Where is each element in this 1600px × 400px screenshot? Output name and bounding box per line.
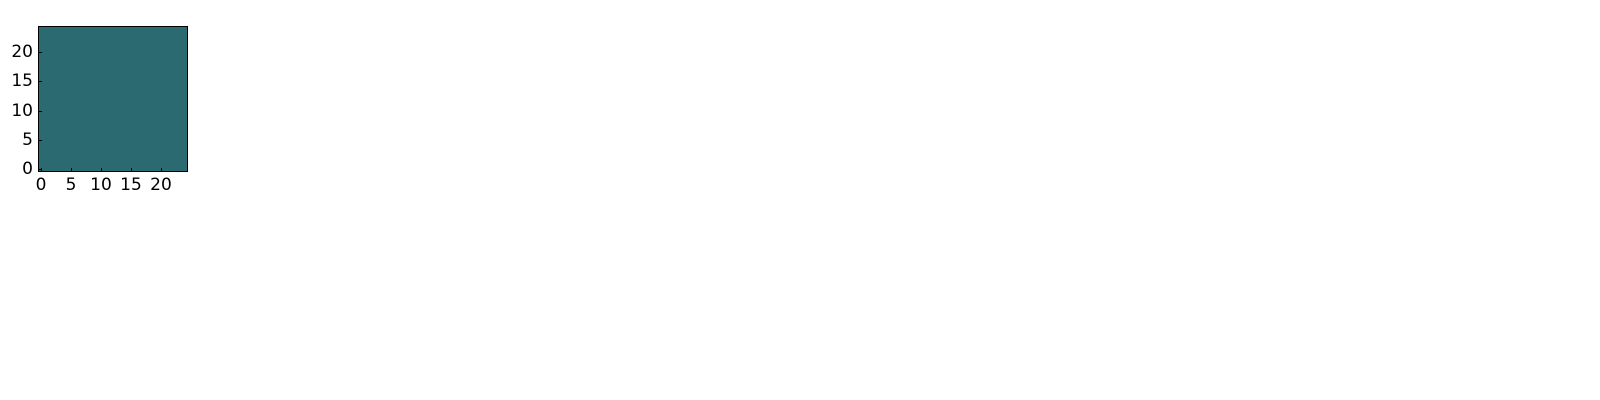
x-tick-f814w: [161, 168, 162, 172]
panel-f814w: 0510152005101520: [0, 0, 1600, 400]
x-tick-label-f814w: 0: [36, 175, 47, 195]
x-tick-f814w: [101, 168, 102, 172]
image-axes-f814w: [38, 26, 188, 172]
y-tick-label-f814w: 20: [0, 42, 33, 62]
x-tick-f814w: [131, 168, 132, 172]
x-tick-label-f814w: 5: [66, 175, 77, 195]
y-tick-label-f814w: 5: [0, 130, 33, 150]
y-tick-f814w: [38, 52, 42, 53]
y-tick-f814w: [38, 140, 42, 141]
x-tick-label-f814w: 10: [90, 175, 112, 195]
x-tick-f814w: [71, 168, 72, 172]
y-tick-label-f814w: 15: [0, 71, 33, 91]
x-tick-label-f814w: 20: [150, 175, 172, 195]
y-tick-label-f814w: 10: [0, 101, 33, 121]
x-tick-label-f814w: 15: [120, 175, 142, 195]
y-tick-f814w: [38, 81, 42, 82]
y-tick-f814w: [38, 169, 42, 170]
x-tick-f814w: [41, 168, 42, 172]
heatmap-image-f814w: [39, 27, 187, 171]
y-tick-label-f814w: 0: [0, 159, 33, 179]
y-tick-f814w: [38, 111, 42, 112]
